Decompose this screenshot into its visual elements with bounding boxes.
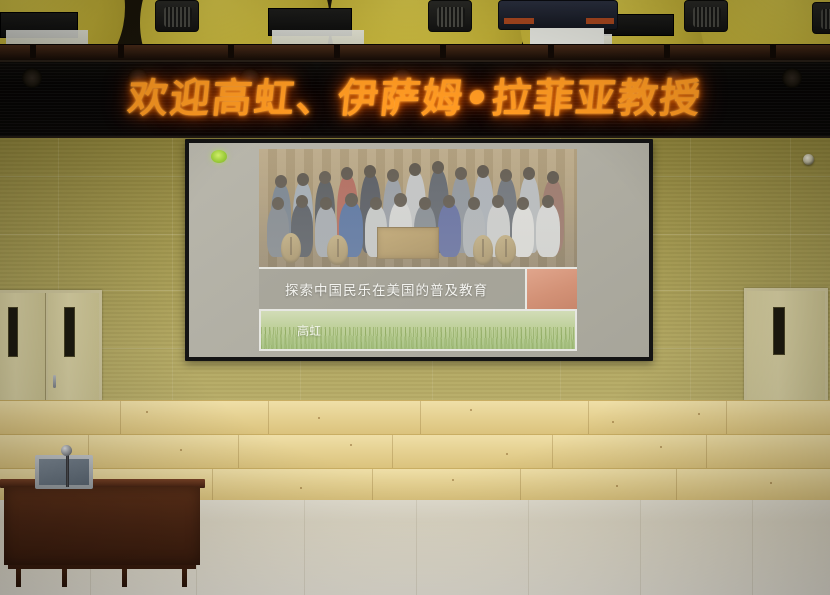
door-handle[interactable] — [53, 375, 56, 388]
riser-tier — [0, 400, 830, 434]
ceiling-projector — [498, 0, 618, 30]
par-can-light — [428, 0, 472, 32]
projector-lens — [530, 28, 604, 44]
par-can-light — [812, 2, 830, 34]
slide-author-band: 高虹 — [259, 311, 577, 351]
auditorium-photo: 欢迎高虹、伊萨姆•拉菲亚教授 — [0, 0, 830, 595]
ceiling — [0, 0, 830, 60]
led-welcome-banner: 欢迎高虹、伊萨姆•拉菲亚教授 — [0, 60, 830, 138]
riser-tier — [0, 434, 830, 468]
par-can-light — [155, 0, 199, 32]
led-banner-text: 欢迎高虹、伊萨姆•拉菲亚教授 — [126, 79, 704, 119]
slide-author-text: 高虹 — [297, 322, 321, 339]
slide-accent-block — [525, 269, 577, 309]
projection-haze — [259, 149, 577, 267]
wall-camera — [803, 154, 814, 165]
microphone-stem — [66, 453, 69, 487]
door-window — [773, 307, 785, 355]
laser-pointer-dot — [211, 150, 227, 163]
par-can-light — [684, 0, 728, 32]
projection-screen-frame: 探索中国民乐在美国的普及教育 高虹 — [185, 139, 653, 361]
slide-group-photo — [259, 149, 577, 267]
desk-stretcher-rail — [8, 565, 196, 569]
door-window — [8, 307, 18, 357]
monitor-screen[interactable] — [39, 459, 89, 485]
projector-indicator — [504, 18, 534, 24]
slide-title-text: 探索中国民乐在美国的普及教育 — [285, 279, 488, 299]
presenter-desk[interactable] — [0, 479, 205, 589]
projector-indicator — [586, 18, 614, 24]
desk-front-panel — [4, 487, 200, 565]
monitor-bezel — [35, 455, 93, 489]
desk-monitor[interactable] — [35, 455, 93, 489]
slide-title-row: 探索中国民乐在美国的普及教育 — [259, 267, 577, 311]
slide-title-band: 探索中国民乐在美国的普及教育 — [259, 269, 525, 309]
projection-screen: 探索中国民乐在美国的普及教育 高虹 — [189, 143, 649, 357]
banner-speaker-icon — [22, 68, 42, 88]
presentation-slide: 探索中国民乐在美国的普及教育 高虹 — [259, 149, 577, 353]
lighting-truss — [0, 44, 830, 60]
banner-speaker-icon — [782, 68, 802, 88]
door-window — [64, 307, 75, 357]
microphone-icon[interactable] — [61, 445, 72, 456]
